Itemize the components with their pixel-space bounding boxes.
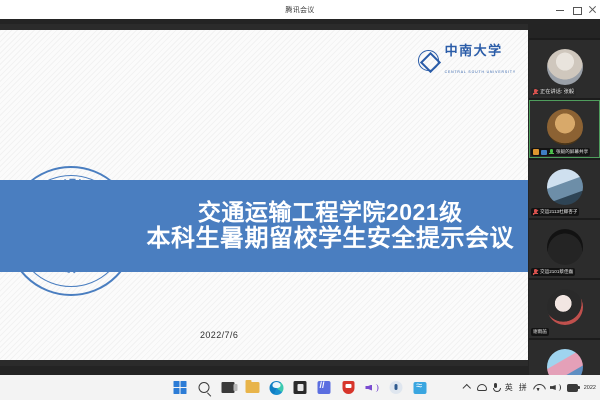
tray-microphone-icon[interactable]: [493, 383, 499, 392]
microphone-muted-icon: [533, 209, 538, 216]
slide-title-line-1: 交通运输工程学院2021级: [147, 199, 515, 226]
participant-video-strip[interactable]: 正在讲话: 张毅张毅的屏幕共享交运2113杜卿杏子交运2101蔡佳磊谢雨菡210…: [529, 38, 600, 394]
wave-icon[interactable]: [413, 380, 428, 395]
window-controls: [556, 0, 597, 19]
folder-icon[interactable]: [245, 380, 260, 395]
minimize-button[interactable]: [556, 5, 565, 14]
participant-tile[interactable]: 正在讲话: 张毅: [529, 40, 600, 98]
avatar: [547, 49, 583, 85]
close-button[interactable]: [588, 5, 597, 14]
participant-label: 张毅的屏幕共享: [531, 148, 590, 156]
slide-title-band: 交通运输工程学院2021级 本科生暑期留校学生安全提示会议: [0, 180, 528, 272]
store-icon[interactable]: [293, 380, 308, 395]
screen-share-icon: [541, 150, 547, 155]
microphone-icon[interactable]: [389, 380, 404, 395]
ime-pinyin-indicator[interactable]: 拼: [519, 382, 527, 393]
csu-logo-cn: 中南大学: [445, 44, 503, 59]
media-player-icon[interactable]: [317, 380, 332, 395]
participant-tile[interactable]: 张毅的屏幕共享: [529, 100, 600, 158]
search-icon[interactable]: [197, 380, 212, 395]
taskbar-app-icons: [173, 380, 428, 395]
chevron-up-icon[interactable]: [464, 384, 471, 391]
participant-name: 交运2101蔡佳磊: [540, 268, 573, 276]
participant-name: 正在讲话: 张毅: [540, 88, 574, 96]
window-title: 腾讯会议: [285, 5, 314, 15]
microphone-muted-icon: [533, 89, 538, 96]
avatar: [547, 229, 583, 265]
meeting-stage: 中南大学 CENTRAL SOUTH UNIVERSITY CENTRAL SO…: [0, 19, 600, 375]
edge-icon[interactable]: [269, 380, 284, 395]
participant-tile[interactable]: 交运2113杜卿杏子: [529, 160, 600, 218]
participant-label: 交运2101蔡佳磊: [531, 268, 575, 276]
shield-icon[interactable]: [341, 380, 356, 395]
participant-name: 交运2113杜卿杏子: [540, 208, 577, 216]
system-tray: 英 拼 2022: [464, 382, 596, 393]
csu-logo-text: 中南大学 CENTRAL SOUTH UNIVERSITY: [445, 42, 516, 78]
speaker-icon[interactable]: [365, 380, 380, 395]
clock[interactable]: 2022: [584, 385, 596, 391]
participant-name: 张毅的屏幕共享: [556, 148, 588, 156]
avatar: [547, 109, 583, 145]
participant-label: 正在讲话: 张毅: [531, 88, 576, 96]
cloud-icon[interactable]: [477, 384, 487, 391]
slide-title: 交通运输工程学院2021级 本科生暑期留校学生安全提示会议: [147, 199, 529, 254]
shared-screen-area[interactable]: 中南大学 CENTRAL SOUTH UNIVERSITY CENTRAL SO…: [0, 24, 528, 366]
participant-label: 谢雨菡: [531, 328, 549, 336]
task-view-icon[interactable]: [221, 380, 236, 395]
avatar: [547, 289, 583, 325]
battery-icon[interactable]: [567, 384, 578, 392]
windows-start-icon[interactable]: [173, 380, 188, 395]
csu-seal-icon: [418, 50, 439, 71]
microphone-on-icon: [549, 149, 554, 156]
participant-label: 交运2113杜卿杏子: [531, 208, 579, 216]
wifi-icon[interactable]: [533, 384, 544, 392]
volume-icon[interactable]: [550, 383, 561, 392]
participant-name: 谢雨菡: [533, 328, 547, 336]
csu-logo-en: CENTRAL SOUTH UNIVERSITY: [445, 70, 516, 74]
slide-title-line-2: 本科生暑期留校学生安全提示会议: [147, 225, 515, 253]
tencent-meeting-window: 腾讯会议 中南大学 CENTRAL SOUTH UNIVERSITY: [0, 0, 600, 400]
ime-mode-indicator[interactable]: 英: [505, 382, 513, 393]
windows-taskbar: 英 拼 2022: [0, 375, 600, 400]
microphone-muted-icon: [533, 269, 538, 276]
csu-header-logo: 中南大学 CENTRAL SOUTH UNIVERSITY: [418, 42, 516, 78]
window-title-bar: 腾讯会议: [0, 0, 600, 19]
maximize-button[interactable]: [572, 5, 581, 14]
slide-date: 2022/7/6: [200, 330, 238, 340]
participant-tile[interactable]: 谢雨菡: [529, 280, 600, 338]
presentation-slide: 中南大学 CENTRAL SOUTH UNIVERSITY CENTRAL SO…: [0, 30, 528, 360]
avatar: [547, 169, 583, 205]
host-badge-icon: [533, 149, 539, 155]
participant-tile[interactable]: 交运2101蔡佳磊: [529, 220, 600, 278]
